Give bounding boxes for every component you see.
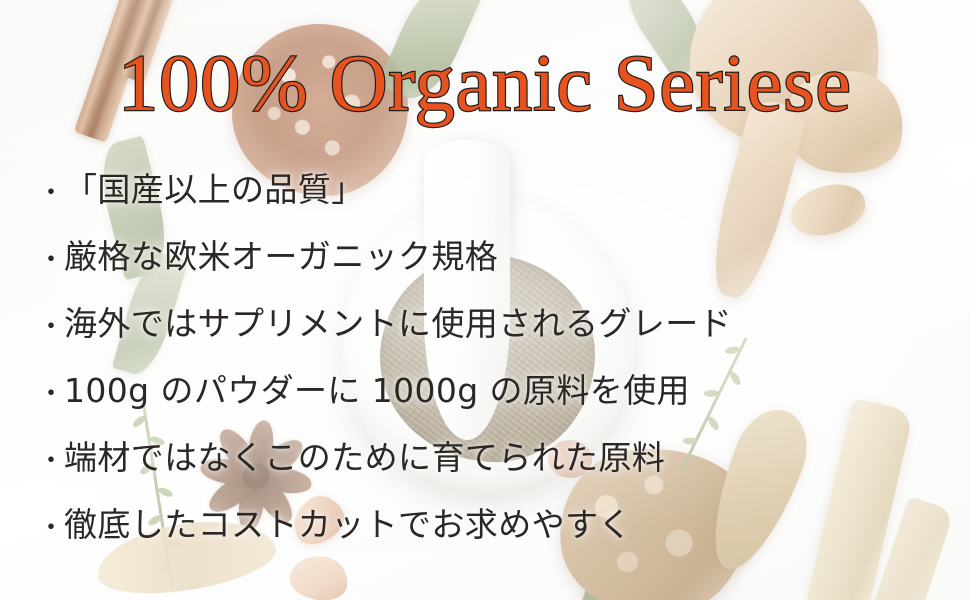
list-item-label: 100g のパウダーに 1000g の原料を使用 xyxy=(64,364,690,412)
text-layer: 100% Organic Seriese ・ 「国産以上の品質」 ・ 厳格な欧米… xyxy=(0,0,970,600)
list-item: ・ 「国産以上の品質」 xyxy=(38,163,938,230)
bullet-marker-icon: ・ xyxy=(38,515,64,541)
list-item-label: 徹底したコストカットでお求めやすく xyxy=(64,498,632,546)
list-item: ・ 海外ではサプリメントに使用されるグレード xyxy=(38,297,938,364)
feature-bullet-list: ・ 「国産以上の品質」 ・ 厳格な欧米オーガニック規格 ・ 海外ではサプリメント… xyxy=(38,163,938,565)
list-item: ・ 端材ではなくこのために育てられた原料 xyxy=(38,431,938,498)
list-item: ・ 徹底したコストカットでお求めやすく xyxy=(38,498,938,565)
bullet-marker-icon: ・ xyxy=(38,247,64,273)
page-title: 100% Organic Seriese xyxy=(0,44,970,124)
bullet-marker-icon: ・ xyxy=(38,314,64,340)
bullet-marker-icon: ・ xyxy=(38,381,64,407)
list-item: ・ 厳格な欧米オーガニック規格 xyxy=(38,230,938,297)
organic-series-banner: 100% Organic Seriese ・ 「国産以上の品質」 ・ 厳格な欧米… xyxy=(0,0,970,600)
bullet-marker-icon: ・ xyxy=(38,448,64,474)
list-item-label: 「国産以上の品質」 xyxy=(64,163,365,211)
bullet-marker-icon: ・ xyxy=(38,180,64,206)
list-item-label: 端材ではなくこのために育てられた原料 xyxy=(64,431,665,479)
list-item: ・ 100g のパウダーに 1000g の原料を使用 xyxy=(38,364,938,431)
list-item-label: 海外ではサプリメントに使用されるグレード xyxy=(64,297,732,345)
list-item-label: 厳格な欧米オーガニック規格 xyxy=(64,230,498,278)
